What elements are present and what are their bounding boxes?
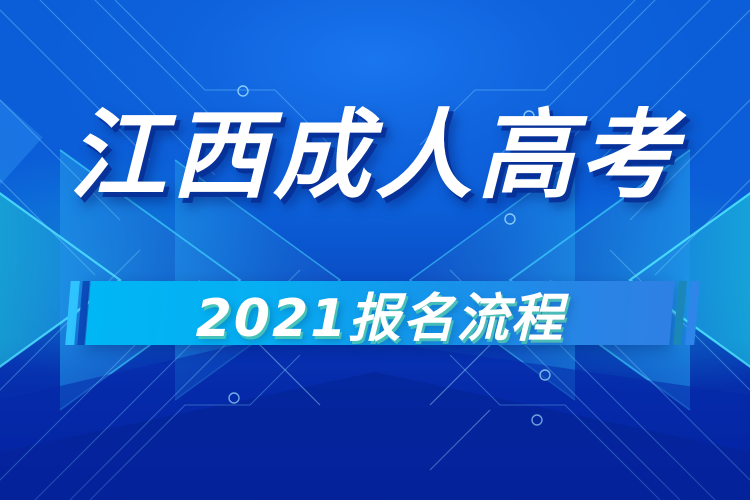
circuit-node-icon (238, 86, 248, 96)
subtitle-text: 2021报名流程 (196, 276, 565, 351)
bottom-fade (0, 340, 750, 500)
page-title: 江西成人高考 (69, 104, 681, 209)
subtitle-banner: 2021报名流程 (85, 281, 675, 345)
title-block: 江西成人高考 (0, 104, 750, 209)
poster-banner: 江西成人高考 2021报名流程 (0, 0, 750, 500)
